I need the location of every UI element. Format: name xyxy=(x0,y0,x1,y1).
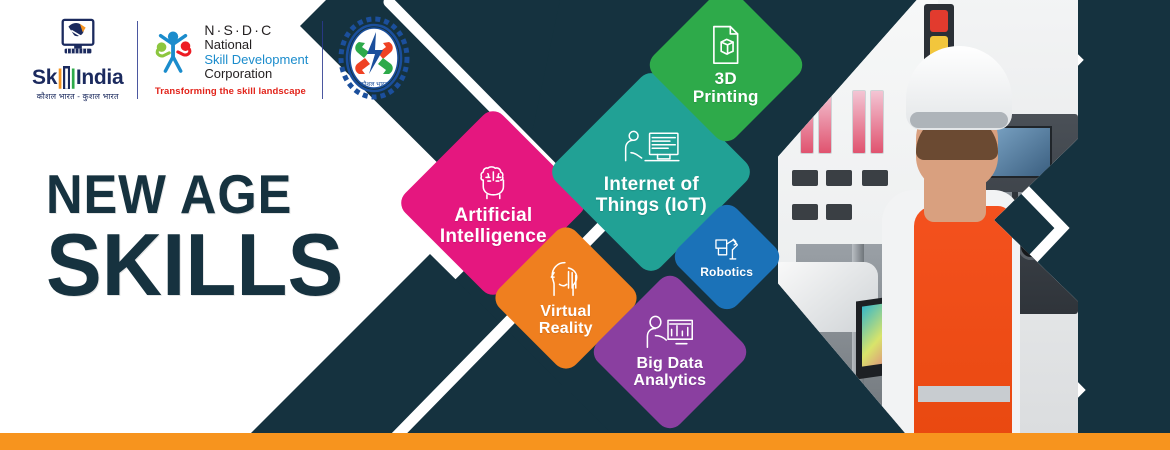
skill-india-subtitle: कौशल भारत - कुशल भारत xyxy=(37,91,119,102)
bottom-accent-bar xyxy=(0,433,1170,450)
logo-bar: Sk|||India कौशल भारत - कुशल भारत xyxy=(18,8,425,112)
gear-with-tools-icon: कौशल भारत xyxy=(337,16,411,105)
tile-label: Virtual Reality xyxy=(539,303,593,338)
nsdc-line-1: National xyxy=(204,38,308,53)
gear-emblem-caption: कौशल भारत xyxy=(361,80,389,88)
brain-head-icon xyxy=(471,158,515,202)
monitor-with-worker-icon xyxy=(55,18,101,67)
people-figures-icon xyxy=(152,27,196,78)
tile-label: Big Data Analytics xyxy=(634,355,707,390)
logo-gear-emblem: कौशल भारत xyxy=(323,16,425,105)
logo-divider-1 xyxy=(137,21,138,99)
person-at-computer-icon xyxy=(620,127,682,171)
document-3d-object-icon xyxy=(709,24,743,66)
nsdc-line-3: Corporation xyxy=(204,67,308,82)
skill-india-title: Sk|||India xyxy=(32,67,123,88)
logo-nsdc: N·S·D·C National Skill Development Corpo… xyxy=(138,23,322,97)
headline-line-2: SKILLS xyxy=(46,223,360,307)
tile-label: Robotics xyxy=(701,266,754,279)
new-age-skills-banner: Artificial Intelligence Internet of Thin… xyxy=(0,0,1170,450)
skill-india-title-part2: India xyxy=(76,66,124,89)
tile-label: Internet of Things (IoT) xyxy=(595,175,706,216)
logo-divider-2 xyxy=(322,21,323,99)
presenter-chart-icon xyxy=(644,315,696,351)
headline: NEW AGE SKILLS xyxy=(46,168,376,307)
logo-skill-india: Sk|||India कौशल भारत - कुशल भारत xyxy=(18,18,137,102)
robot-arm-icon xyxy=(713,236,741,264)
tile-label: 3D Printing xyxy=(693,70,759,107)
nsdc-line-2: Skill Development xyxy=(204,53,308,68)
nsdc-tagline: Transforming the skill landscape xyxy=(155,86,306,97)
headline-line-1: NEW AGE xyxy=(46,168,350,221)
tile-label: Artificial Intelligence xyxy=(440,206,547,247)
skill-india-title-part1: Sk xyxy=(32,66,57,89)
nsdc-acronym: N·S·D·C xyxy=(204,23,308,38)
vr-headset-head-icon xyxy=(547,259,585,299)
